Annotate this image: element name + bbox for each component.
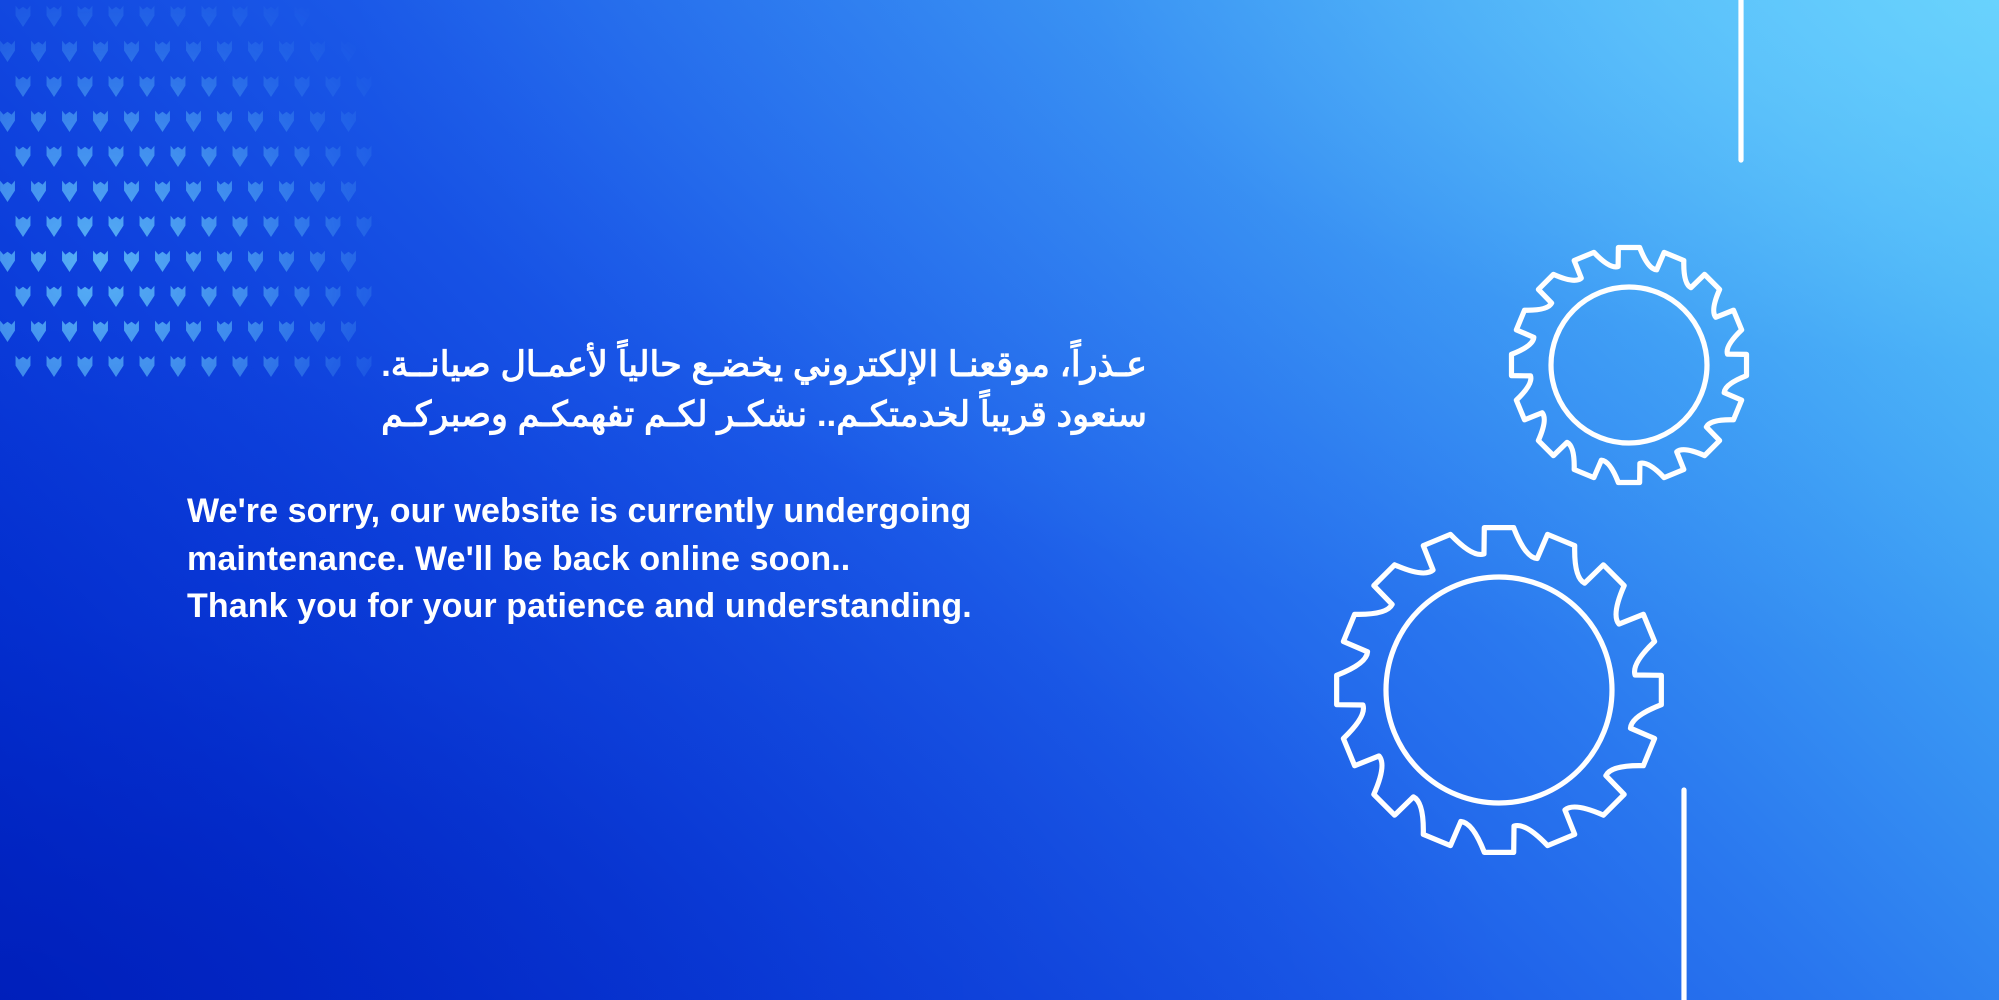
gear-illustration (1239, 0, 1999, 1000)
maintenance-message-block: عـذراً، موقعنـا الإلكتروني يخضـع حالياً … (187, 340, 1147, 631)
large-gear-outline (1337, 528, 1662, 853)
english-line-1: We're sorry, our website is currently un… (187, 488, 1147, 536)
small-gear-inner-circle (1551, 287, 1707, 443)
small-gear-outline (1511, 247, 1746, 482)
english-line-2: maintenance. We'll be back online soon.. (187, 536, 1147, 584)
arabic-message: عـذراً، موقعنـا الإلكتروني يخضـع حالياً … (187, 340, 1147, 440)
english-message: We're sorry, our website is currently un… (187, 488, 1147, 631)
arabic-line-2: سنعود قريباً لخدمتكـم.. نشكـر لكـم تفهمك… (187, 390, 1147, 440)
large-gear-inner-circle (1386, 577, 1612, 803)
maintenance-page: عـذراً، موقعنـا الإلكتروني يخضـع حالياً … (0, 0, 1999, 1000)
english-line-3: Thank you for your patience and understa… (187, 583, 1147, 631)
petal-pattern-decoration (0, 0, 420, 384)
arabic-line-1: عـذراً، موقعنـا الإلكتروني يخضـع حالياً … (187, 340, 1147, 390)
